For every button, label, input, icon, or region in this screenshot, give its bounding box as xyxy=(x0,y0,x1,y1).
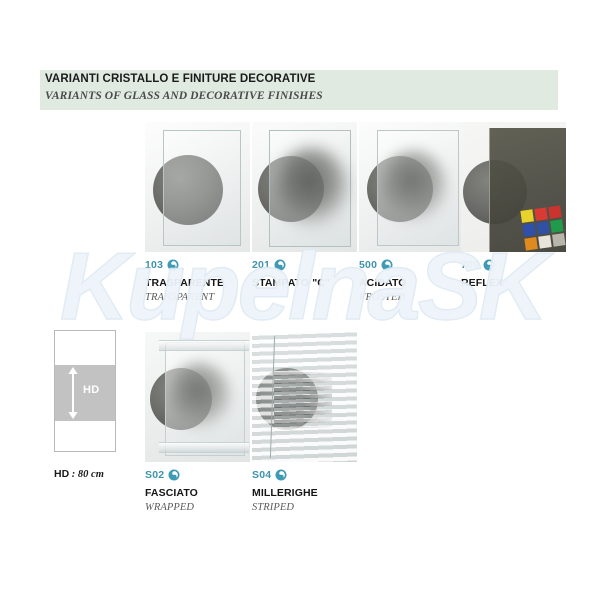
hd-dimension-diagram: HD xyxy=(54,330,116,452)
sample-card-500[interactable]: 500 ACIDATO FROSTED xyxy=(359,122,464,303)
sample-code-row: 500 xyxy=(359,258,464,272)
sample-name-en: WRAPPED xyxy=(145,502,250,513)
sample-code: S02 xyxy=(145,469,164,481)
sample-name-it: TRASPARENTE xyxy=(145,277,250,289)
glass-swirl-icon xyxy=(168,469,180,481)
wrap-band-top xyxy=(159,340,249,351)
glass-swirl-icon xyxy=(483,259,495,271)
sample-name-it: MILLERIGHE xyxy=(252,487,357,499)
sample-photo-millerighe xyxy=(252,332,357,462)
sample-name-en: TRANSPARENT xyxy=(145,292,250,303)
sample-code-row: 103 xyxy=(145,258,250,272)
hd-caption-value: 80 cm xyxy=(78,469,104,480)
glass-swirl-icon xyxy=(167,259,179,271)
sphere-diffused-overlay xyxy=(381,150,447,222)
hd-caption-separator: : xyxy=(69,469,78,480)
hd-label: HD xyxy=(83,384,100,396)
color-checker-chart xyxy=(520,205,565,250)
sample-name-en: FROSTED xyxy=(359,292,464,303)
sample-card-103[interactable]: 103 TRASPARENTE TRANSPARENT xyxy=(145,122,250,303)
sample-code: S04 xyxy=(252,469,271,481)
sample-code-row: S04 xyxy=(252,468,357,482)
sample-code-row: 201 xyxy=(252,258,357,272)
sphere-diffused-overlay xyxy=(276,147,348,227)
sphere-diffused-overlay xyxy=(169,362,231,430)
glass-swirl-icon xyxy=(275,469,287,481)
page-title: VARIANTI CRISTALLO E FINITURE DECORATIVE xyxy=(45,73,315,85)
wrap-band-bottom xyxy=(159,442,249,453)
sample-name-it: FASCIATO xyxy=(145,487,250,499)
sample-code-row: S02 xyxy=(145,468,250,482)
sample-photo-stampato-c xyxy=(252,122,357,252)
glass-pane xyxy=(163,130,241,246)
sample-photo-acidato xyxy=(359,122,464,252)
sample-name-it: ACIDATO xyxy=(359,277,464,289)
hd-caption: HD : 80 cm xyxy=(54,468,104,480)
sample-code: 700 xyxy=(461,259,479,271)
hd-double-arrow-icon xyxy=(67,367,79,419)
sample-code: 500 xyxy=(359,259,377,271)
sample-card-s04[interactable]: S04 MILLERIGHE STRIPED xyxy=(252,332,357,513)
hd-caption-key: HD xyxy=(54,468,69,480)
glass-swirl-icon xyxy=(274,259,286,271)
striped-refraction-overlay xyxy=(274,372,332,428)
sample-photo-transparent xyxy=(145,122,250,252)
sample-photo-fasciato xyxy=(145,332,250,462)
glass-swirl-icon xyxy=(381,259,393,271)
sample-card-s02[interactable]: S02 FASCIATO WRAPPED xyxy=(145,332,250,513)
sample-name-it: REFLEX xyxy=(461,277,566,289)
sample-code: 103 xyxy=(145,259,163,271)
page-subtitle: VARIANTS OF GLASS AND DECORATIVE FINISHE… xyxy=(45,90,323,102)
sample-card-201[interactable]: 201 STAMPATO "C" xyxy=(252,122,357,292)
sample-code-row: 700 xyxy=(461,258,566,272)
sample-name-it: STAMPATO "C" xyxy=(252,277,357,289)
sample-name-en: STRIPED xyxy=(252,502,357,513)
sample-photo-reflex xyxy=(461,122,566,252)
sample-card-700[interactable]: 700 REFLEX xyxy=(461,122,566,292)
sample-code: 201 xyxy=(252,259,270,271)
